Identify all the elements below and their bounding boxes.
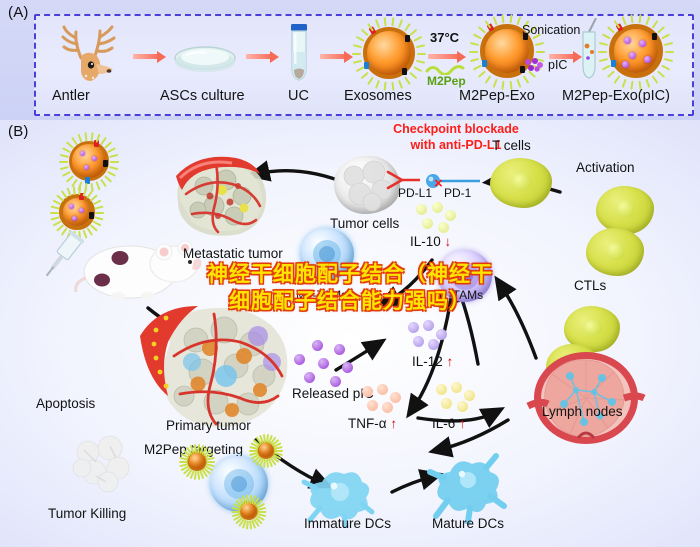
blockade-cross-icon: × xyxy=(434,176,443,191)
exosome-spike-icon xyxy=(179,461,188,463)
mature-dc-illustration xyxy=(424,450,508,524)
metastatic-tumor-illustration xyxy=(170,148,288,248)
exosome-spike-icon xyxy=(231,511,240,513)
pic-cluster-icon xyxy=(524,58,544,72)
checkpoint-line-1: Checkpoint blockade xyxy=(393,122,519,136)
label-ctls: CTLs xyxy=(574,278,606,293)
label-t-cells: T cells xyxy=(492,138,531,153)
label-pd-1: PD-1 xyxy=(444,186,471,200)
il12-trend-arrow: ↑ xyxy=(447,354,454,369)
panel-a-m2pep-label: M2Pep xyxy=(427,74,466,88)
panel-a-label-exosomes: Exosomes xyxy=(344,88,412,104)
exosome-particle-icon xyxy=(256,440,276,460)
exosome-spike-icon xyxy=(417,53,426,55)
label-m1-tams: M1-TAMs xyxy=(432,288,483,302)
panel-a-temperature-label: 37°C xyxy=(430,30,459,45)
label-tumor-killing: Tumor Killing xyxy=(48,506,126,521)
label-immature-dcs: Immature DCs xyxy=(304,516,391,531)
exosome-particle-icon xyxy=(238,500,259,521)
membrane-protein-black-icon xyxy=(103,160,108,167)
exosome-particle-icon xyxy=(57,192,97,232)
t-cell-nucleus xyxy=(616,200,636,217)
panel-a-arrow-2 xyxy=(246,52,280,61)
il10-name: IL-10 xyxy=(410,234,441,249)
deer-head-icon xyxy=(55,24,127,86)
apoptotic-cell-illustration xyxy=(66,432,140,498)
exosome-spike-icon xyxy=(257,511,266,513)
membrane-protein-blue-icon xyxy=(482,60,487,67)
il10-dot-cluster xyxy=(414,202,460,236)
label-cytokine-il12: IL-12 ↑ xyxy=(412,354,453,369)
t-cell-nucleus xyxy=(511,173,532,191)
membrane-protein-black-icon xyxy=(652,33,657,40)
label-m2-tams: M2-TAMs xyxy=(296,288,347,302)
tnf-dot-cluster xyxy=(360,384,406,416)
tnf-trend-arrow: ↑ xyxy=(390,416,397,431)
exosome-icon xyxy=(359,23,419,83)
panel-a-label-uc: UC xyxy=(288,88,309,104)
t-cell-illustration xyxy=(586,228,644,276)
label-mature-dcs: Mature DCs xyxy=(432,516,504,531)
panel-a: (A) Antler xyxy=(0,0,700,120)
exosome-particle-icon xyxy=(186,450,208,472)
sonicator-probe-icon xyxy=(576,18,602,82)
exosome-spike-icon xyxy=(352,53,361,55)
panel-a-pic-label: pIC xyxy=(548,58,567,72)
exosome-spike-icon xyxy=(95,212,104,214)
panel-a-arrow-4 xyxy=(428,52,468,61)
t-cell-illustration xyxy=(596,186,654,234)
exosome-spike-icon xyxy=(536,51,545,53)
exosome-spike-icon xyxy=(59,161,68,163)
il12-dot-cluster xyxy=(406,320,452,354)
exosome-spike-icon xyxy=(110,161,119,163)
panel-a-label-ascs: ASCs culture xyxy=(160,88,245,104)
label-activation: Activation xyxy=(576,160,635,175)
exosome-spike-icon xyxy=(249,520,252,529)
il12-name: IL-12 xyxy=(412,354,443,369)
exosome-spike-icon xyxy=(50,212,59,214)
panel-a-label-m2pepexo: M2Pep-Exo xyxy=(459,88,535,104)
exosome-spike-icon xyxy=(598,51,607,53)
ctl-nucleus xyxy=(583,320,602,337)
tnf-name: TNF-α xyxy=(348,416,387,431)
checkpoint-line-2: with anti-PD-L1 xyxy=(411,138,502,152)
figure-canvas: (A) Antler xyxy=(0,0,700,547)
label-primary-tumor: Primary tumor xyxy=(166,418,251,433)
label-lymph-nodes: Lymph nodes xyxy=(542,404,623,419)
m2-tam-macrophage xyxy=(300,228,354,280)
exosome-spike-icon xyxy=(665,51,674,53)
t-cell-illustration xyxy=(490,158,552,208)
panel-a-arrow-3 xyxy=(320,52,354,61)
lymph-node-illustration xyxy=(526,346,646,450)
pic-cargo-icon xyxy=(622,61,629,68)
il6-trend-arrow: ↑ xyxy=(459,416,466,431)
il10-trend-arrow: ↓ xyxy=(445,234,452,249)
membrane-protein-blue-icon xyxy=(611,60,616,67)
il6-name: IL-6 xyxy=(432,416,455,431)
label-cytokine-il10: IL-10 ↓ xyxy=(410,234,451,249)
pic-cargo-icon xyxy=(644,56,651,63)
membrane-protein-black-2-icon xyxy=(402,68,407,75)
released-pic-cluster xyxy=(288,340,366,390)
pic-cargo-icon xyxy=(629,52,636,59)
panel-a-label-m2pepexopic: M2Pep-Exo(pIC) xyxy=(562,88,670,104)
t-cell-nucleus xyxy=(606,242,626,259)
panel-a-sonication-label: Sonication xyxy=(522,23,580,37)
m2pep-squiggle-icon xyxy=(425,62,471,74)
panel-b: (B) xyxy=(0,120,700,547)
il6-dot-cluster xyxy=(434,382,480,414)
exosome-spike-icon xyxy=(469,51,478,53)
pic-cargo-icon xyxy=(624,37,631,44)
centrifuge-tube-icon xyxy=(286,22,312,84)
panel-a-tag: (A) xyxy=(8,4,29,21)
label-cytokine-tnf: TNF-α ↑ xyxy=(348,416,397,431)
label-metastatic-tumor: Metastatic tumor xyxy=(183,246,283,261)
membrane-protein-black-icon xyxy=(405,35,410,42)
label-apoptosis: Apoptosis xyxy=(36,396,95,411)
label-cytokine-il6: IL-6 ↑ xyxy=(432,416,466,431)
label-pd-l1: PD-L1 xyxy=(398,186,432,200)
panel-a-label-antler: Antler xyxy=(52,88,90,104)
petri-dish-icon xyxy=(172,44,238,74)
exosome-spike-icon xyxy=(249,450,258,452)
membrane-protein-blue-icon xyxy=(364,62,369,69)
exosome-loaded-icon xyxy=(605,20,667,82)
exosome-spike-icon xyxy=(245,494,248,503)
exosome-particle-icon xyxy=(66,138,112,184)
panel-a-arrow-1 xyxy=(133,52,167,61)
pic-cargo-icon xyxy=(639,40,646,47)
